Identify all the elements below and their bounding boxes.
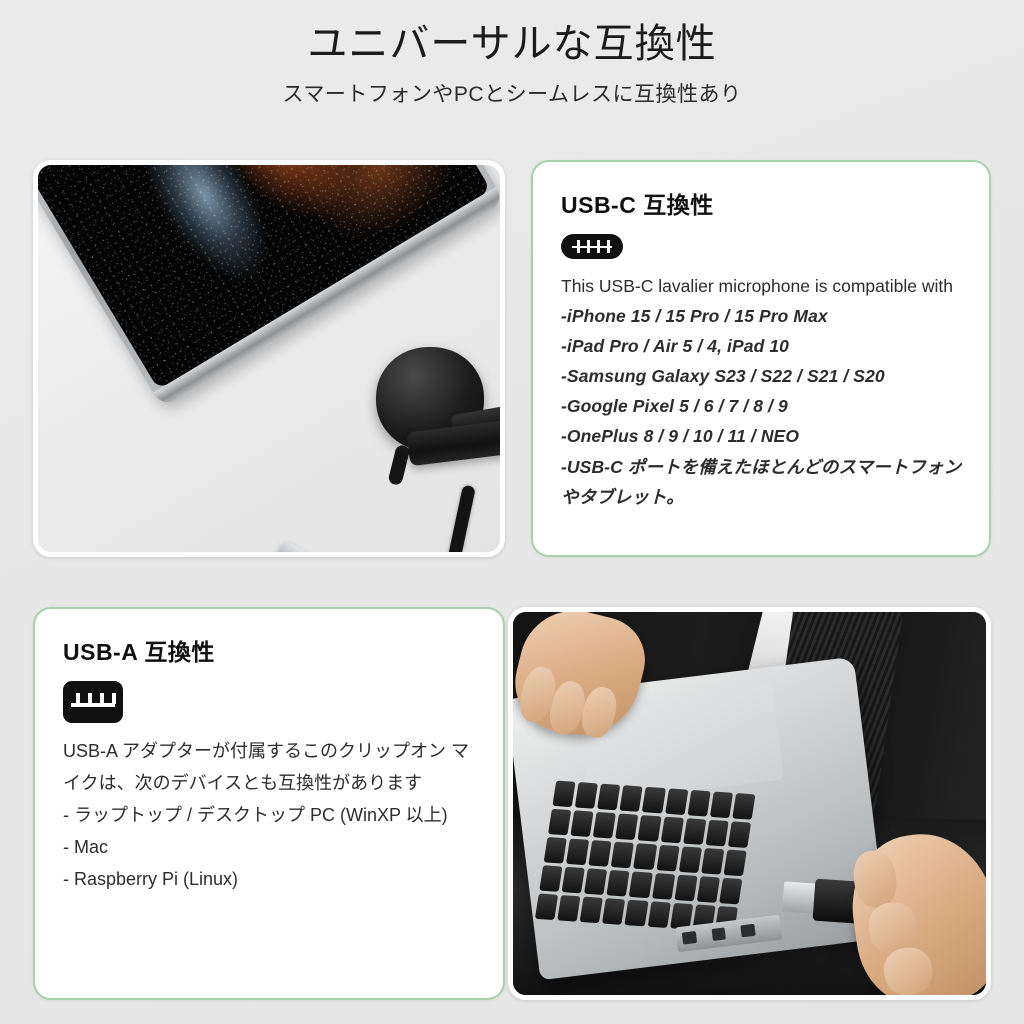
usb-a-port-icon: [63, 681, 123, 723]
page-header: ユニバーサルな互換性 スマートフォンやPCとシームレスに互換性あり: [0, 20, 1024, 108]
key: [612, 842, 635, 869]
key: [548, 809, 571, 836]
key: [580, 896, 603, 923]
mic-cable-secondary: [409, 484, 476, 557]
key: [625, 900, 648, 927]
usb-port-slot: [712, 928, 727, 942]
usb-c-device-line: -Google Pixel 5 / 6 / 7 / 8 / 9: [561, 391, 963, 421]
connector-label: [279, 554, 321, 557]
key: [706, 820, 729, 847]
usb-c-icon-tick: [587, 240, 590, 253]
key: [603, 898, 626, 925]
lavalier-microphone-image: [356, 347, 505, 487]
laptop-photo-backdrop: [513, 612, 986, 995]
key: [648, 901, 671, 928]
key: [688, 790, 711, 817]
infographic-page: ユニバーサルな互換性 スマートフォンやPCとシームレスに互換性あり: [0, 0, 1024, 1024]
usb-c-device-line: -Samsung Galaxy S23 / S22 / S21 / S20: [561, 361, 963, 391]
key: [643, 787, 666, 814]
usb-port-slot: [683, 931, 698, 945]
usb-c-device-line: -USB-C ポートを備えたほとんどのスマートフォンやタブレット。: [561, 452, 963, 512]
key: [589, 840, 612, 867]
usb-c-icon-tick: [597, 240, 600, 253]
usb-c-port-icon: [561, 234, 623, 259]
key: [535, 893, 558, 920]
key: [652, 873, 675, 900]
laptop-keyboard: [535, 781, 755, 933]
key: [585, 868, 608, 895]
key: [607, 870, 630, 897]
key: [638, 815, 661, 842]
key: [593, 812, 616, 839]
usb-c-device-line: -iPad Pro / Air 5 / 4, iPad 10: [561, 331, 963, 361]
usb-a-icon-tick: [88, 693, 92, 704]
usb-c-info-card: USB-C 互換性 This USB-C lavalier microphone…: [531, 160, 991, 557]
usb-port-slot: [741, 924, 756, 938]
key: [558, 895, 581, 922]
usb-c-device-line: -OnePlus 8 / 9 / 10 / 11 / NEO: [561, 421, 963, 451]
usb-c-body: This USB-C lavalier microphone is compat…: [561, 271, 963, 512]
key: [679, 846, 702, 873]
usb-c-icon-tick: [577, 240, 580, 253]
photo-card-laptop: [508, 607, 991, 1000]
key: [661, 817, 684, 844]
key: [634, 843, 657, 870]
key: [553, 781, 576, 808]
key: [656, 845, 679, 872]
connector-shell: [265, 540, 368, 557]
usb-a-info-card: USB-A 互換性 USB-A アダプターが付属するこのクリップオン マイクは、…: [33, 607, 505, 1000]
page-subtitle: スマートフォンやPCとシームレスに互換性あり: [0, 78, 1024, 108]
key: [540, 865, 563, 892]
key: [571, 810, 594, 837]
key: [665, 788, 688, 815]
key: [544, 837, 567, 864]
key: [616, 814, 639, 841]
phone-photo-backdrop: [38, 165, 500, 552]
key: [598, 784, 621, 811]
usb-a-title: USB-A 互換性: [63, 633, 477, 667]
usb-a-icon-tick: [76, 693, 80, 704]
key: [683, 818, 706, 845]
usb-a-icon-tick: [100, 693, 104, 704]
usb-a-device-line: - Raspberry Pi (Linux): [63, 863, 477, 895]
photo-card-phone: [33, 160, 505, 557]
mic-neck: [387, 444, 410, 486]
page-title: ユニバーサルな互換性: [0, 20, 1024, 68]
usb-c-title: USB-C 互換性: [561, 186, 963, 220]
key: [630, 871, 653, 898]
key: [562, 867, 585, 894]
usb-a-body: USB-A アダプターが付属するこのクリップオン マイクは、次のデバイスとも互換…: [63, 735, 477, 895]
key: [675, 875, 698, 902]
key: [701, 848, 724, 875]
usb-a-lead-text: USB-A アダプターが付属するこのクリップオン マイクは、次のデバイスとも互換…: [63, 735, 477, 799]
key: [697, 876, 720, 903]
usb-c-lead-text: This USB-C lavalier microphone is compat…: [561, 271, 963, 301]
key: [567, 839, 590, 866]
usb-a-icon-tick: [112, 693, 116, 704]
usb-a-device-line: - Mac: [63, 831, 477, 863]
usb-c-device-line: -iPhone 15 / 15 Pro / 15 Pro Max: [561, 301, 963, 331]
key: [710, 792, 733, 819]
usb-c-connector-image: [265, 540, 368, 557]
key: [575, 782, 598, 809]
usb-a-device-line: - ラップトップ / デスクトップ PC (WinXP 以上): [63, 799, 477, 831]
key: [620, 785, 643, 812]
usb-c-icon-tick: [607, 240, 610, 253]
